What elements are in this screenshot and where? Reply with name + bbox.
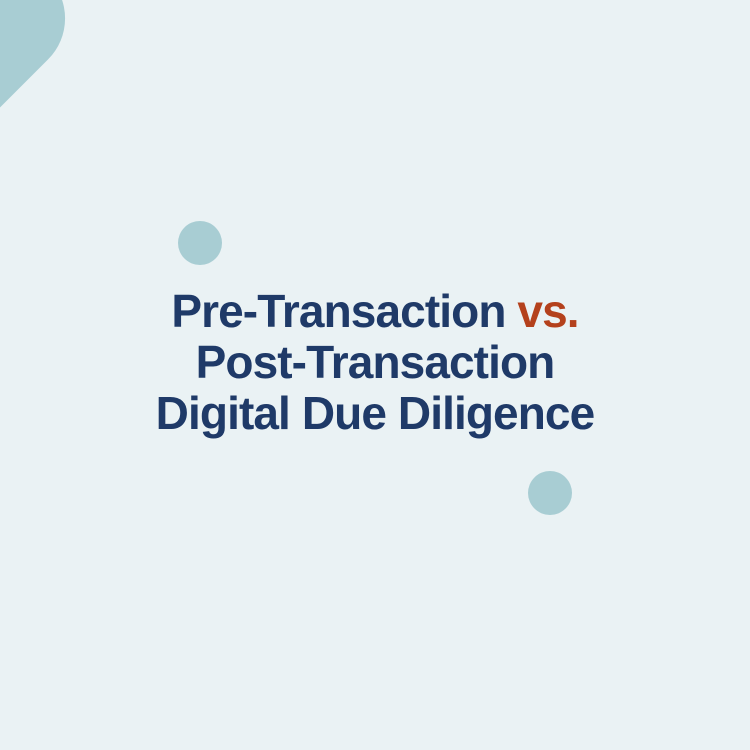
poster-title: Pre-Transaction vs. Post-Transaction Dig… — [0, 286, 750, 439]
decor-circle — [528, 471, 572, 515]
title-line-2: Post-Transaction — [40, 337, 710, 388]
decor-top-left-group — [0, 0, 273, 322]
capsule-shape — [0, 0, 54, 18]
title-line-3: Digital Due Diligence — [40, 388, 710, 439]
capsule-shape — [0, 0, 89, 322]
title-line-1: Pre-Transaction vs. — [40, 286, 710, 337]
poster-canvas: Pre-Transaction vs. Post-Transaction Dig… — [0, 0, 750, 750]
capsule-shape — [0, 0, 82, 174]
decor-circle — [178, 221, 222, 265]
capsule-shape — [651, 531, 750, 750]
title-accent-vs: vs. — [517, 285, 578, 337]
title-line-1-main: Pre-Transaction — [171, 285, 517, 337]
capsule-highlight — [734, 657, 750, 750]
